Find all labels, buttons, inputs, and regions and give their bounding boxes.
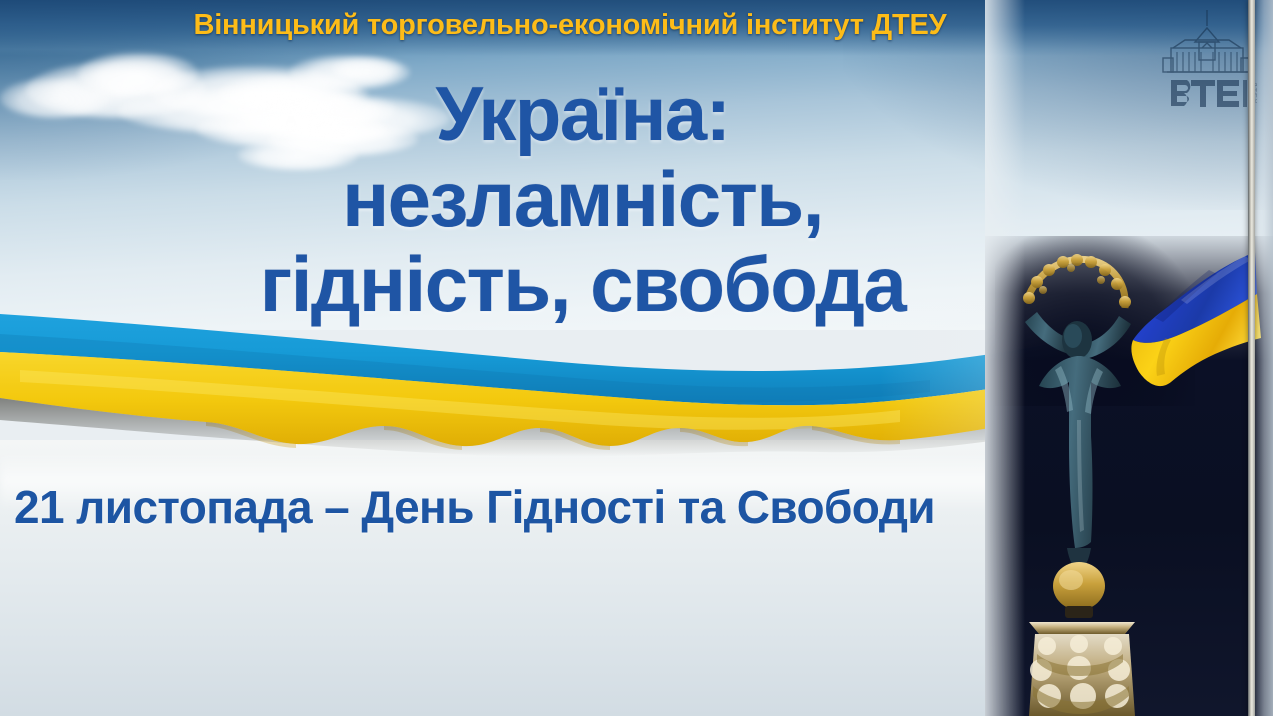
slide-canvas: Вінницький торговельно-економічний інсти… — [0, 0, 1273, 716]
independence-monument-berehynia — [985, 230, 1273, 716]
ukrainian-flag-wave-band — [0, 300, 1060, 470]
pole-edge-glow — [1251, 0, 1273, 716]
event-caption: 21 листопада – День Гідності та Свободи — [14, 480, 994, 534]
panel-left-fade — [985, 0, 1025, 716]
right-photo-panel — [985, 0, 1273, 716]
institution-title: Вінницький торговельно-економічний інсти… — [0, 9, 1140, 42]
